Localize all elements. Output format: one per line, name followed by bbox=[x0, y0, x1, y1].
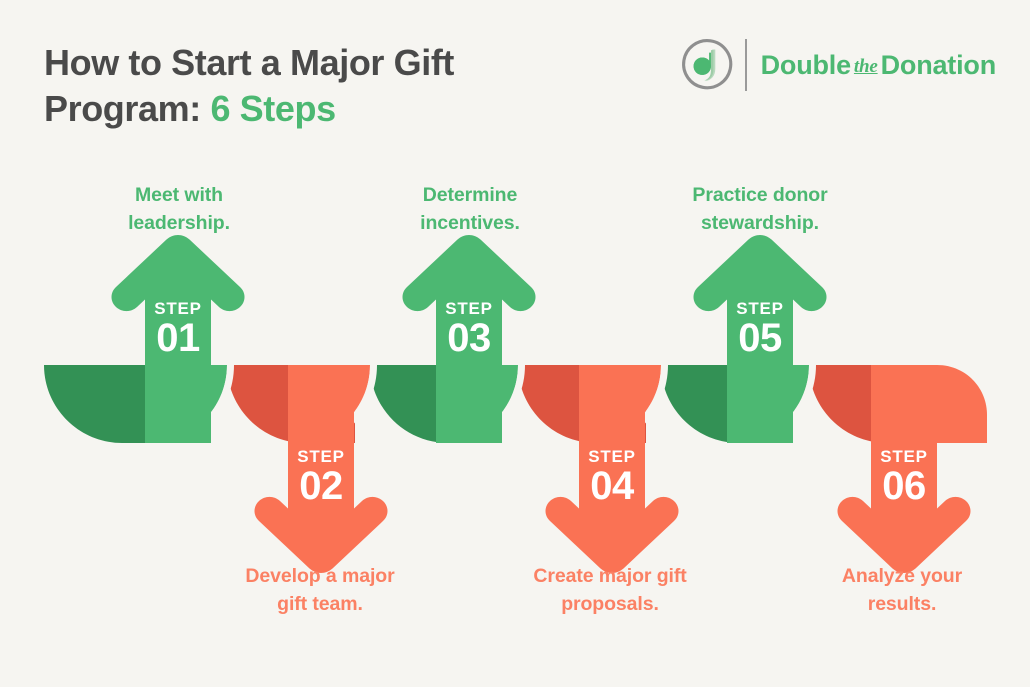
double-the-donation-leaf-icon bbox=[675, 34, 737, 96]
caption-line-2: proposals. bbox=[561, 593, 659, 615]
page-title: How to Start a Major Gift Program: 6 Ste… bbox=[44, 40, 644, 132]
brand-logo[interactable]: DoubletheDonation bbox=[675, 32, 996, 98]
process-diagram: STEP 01 STEP 03 STEP 05 STEP 02 STEP 04 … bbox=[0, 160, 1030, 687]
caption-line-1: Meet with bbox=[135, 184, 223, 206]
step-label-05: STEP 05 bbox=[700, 300, 820, 359]
caption-line-2: leadership. bbox=[128, 212, 230, 234]
brand-name-part2: Donation bbox=[881, 50, 996, 80]
caption-line-1: Determine bbox=[423, 184, 517, 206]
step-number: 02 bbox=[261, 466, 381, 507]
step-label-01: STEP 01 bbox=[118, 300, 238, 359]
brand-name: DoubletheDonation bbox=[761, 50, 996, 81]
step-label-06: STEP 06 bbox=[844, 448, 964, 507]
title-line-2-plain: Program: bbox=[44, 88, 210, 129]
step-word: STEP bbox=[844, 448, 964, 465]
caption-line-2: incentives. bbox=[420, 212, 520, 234]
step-word: STEP bbox=[118, 300, 238, 317]
caption-line-1: Develop a major bbox=[245, 565, 394, 587]
brand-name-part1: Double bbox=[761, 50, 851, 80]
caption-line-1: Analyze your bbox=[842, 565, 962, 587]
caption-line-1: Create major gift bbox=[533, 565, 686, 587]
title-line-1: How to Start a Major Gift bbox=[44, 42, 454, 83]
step-number: 01 bbox=[118, 318, 238, 359]
caption-line-1: Practice donor bbox=[692, 184, 827, 206]
logo-divider bbox=[745, 39, 747, 91]
caption-step-01: Meet with leadership. bbox=[92, 182, 266, 237]
step-label-02: STEP 02 bbox=[261, 448, 381, 507]
brand-name-the: the bbox=[851, 56, 881, 77]
caption-line-2: gift team. bbox=[277, 593, 363, 615]
step-word: STEP bbox=[700, 300, 820, 317]
caption-step-04: Create major gift proposals. bbox=[520, 563, 700, 618]
caption-step-03: Determine incentives. bbox=[383, 182, 557, 237]
step-word: STEP bbox=[552, 448, 672, 465]
step-word: STEP bbox=[409, 300, 529, 317]
header: How to Start a Major Gift Program: 6 Ste… bbox=[0, 0, 1030, 160]
step-label-03: STEP 03 bbox=[409, 300, 529, 359]
step-number: 05 bbox=[700, 318, 820, 359]
caption-line-2: stewardship. bbox=[701, 212, 819, 234]
step-number: 04 bbox=[552, 466, 672, 507]
step-number: 03 bbox=[409, 318, 529, 359]
step-label-04: STEP 04 bbox=[552, 448, 672, 507]
step-number: 06 bbox=[844, 466, 964, 507]
infographic-canvas: How to Start a Major Gift Program: 6 Ste… bbox=[0, 0, 1030, 687]
caption-step-05: Practice donor stewardship. bbox=[670, 182, 850, 237]
caption-step-06: Analyze your results. bbox=[812, 563, 992, 618]
step-word: STEP bbox=[261, 448, 381, 465]
title-line-2-accent: 6 Steps bbox=[210, 88, 335, 129]
caption-line-2: results. bbox=[868, 593, 937, 615]
caption-step-02: Develop a major gift team. bbox=[230, 563, 410, 618]
